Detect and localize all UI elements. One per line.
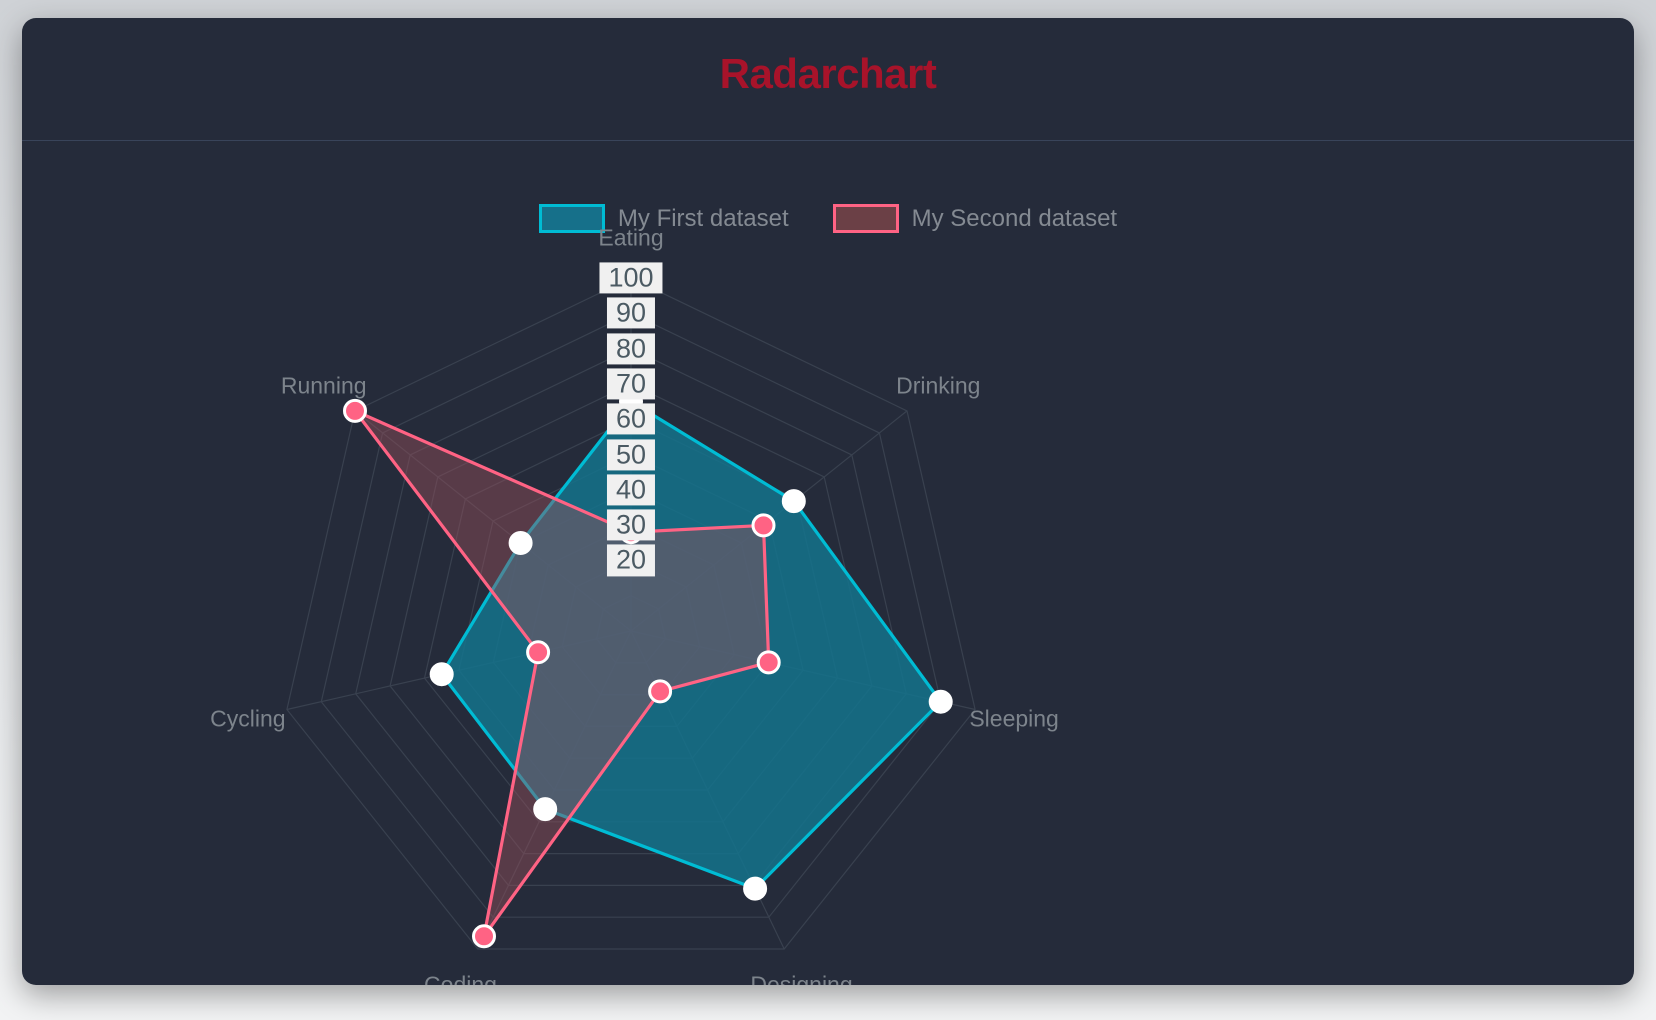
legend-label-second-dataset: My Second dataset	[912, 205, 1117, 233]
legend-swatch-second-dataset	[833, 204, 899, 233]
radar-points-series-2	[345, 400, 780, 946]
axis-label-running: Running	[281, 373, 367, 400]
legend-item-second-dataset[interactable]: My Second dataset	[833, 204, 1117, 233]
radial-tick-80: 80	[607, 333, 655, 364]
radial-tick-50: 50	[607, 439, 655, 470]
radial-tick-70: 70	[607, 368, 655, 399]
radar-series-2	[355, 411, 769, 936]
radar-chart-canvas	[22, 18, 1634, 985]
radial-tick-30: 30	[607, 510, 655, 541]
radial-tick-60: 60	[607, 404, 655, 435]
radial-tick-40: 40	[607, 474, 655, 505]
legend-swatch-first-dataset	[539, 204, 605, 233]
page-title: Radarchart	[22, 50, 1634, 98]
chart-legend: My First dataset My Second dataset	[22, 204, 1634, 233]
radial-tick-90: 90	[607, 298, 655, 329]
chart-window: Radarchart My First dataset My Second da…	[22, 18, 1634, 985]
axis-label-designing: Designing	[750, 972, 852, 985]
radar-points-series-1	[431, 391, 951, 899]
radial-tick-100: 100	[599, 262, 662, 293]
page-root: Radarchart My First dataset My Second da…	[0, 0, 1656, 1020]
axis-label-drinking: Drinking	[896, 373, 980, 400]
legend-item-first-dataset[interactable]: My First dataset	[539, 204, 789, 233]
axis-label-eating: Eating	[598, 225, 663, 252]
axis-label-cycling: Cycling	[210, 705, 285, 732]
axis-label-sleeping: Sleeping	[969, 705, 1059, 732]
radar-series-1	[442, 402, 941, 889]
radial-tick-20: 20	[607, 545, 655, 576]
axis-label-coding: Coding	[424, 972, 497, 985]
title-bar: Radarchart	[22, 18, 1634, 141]
